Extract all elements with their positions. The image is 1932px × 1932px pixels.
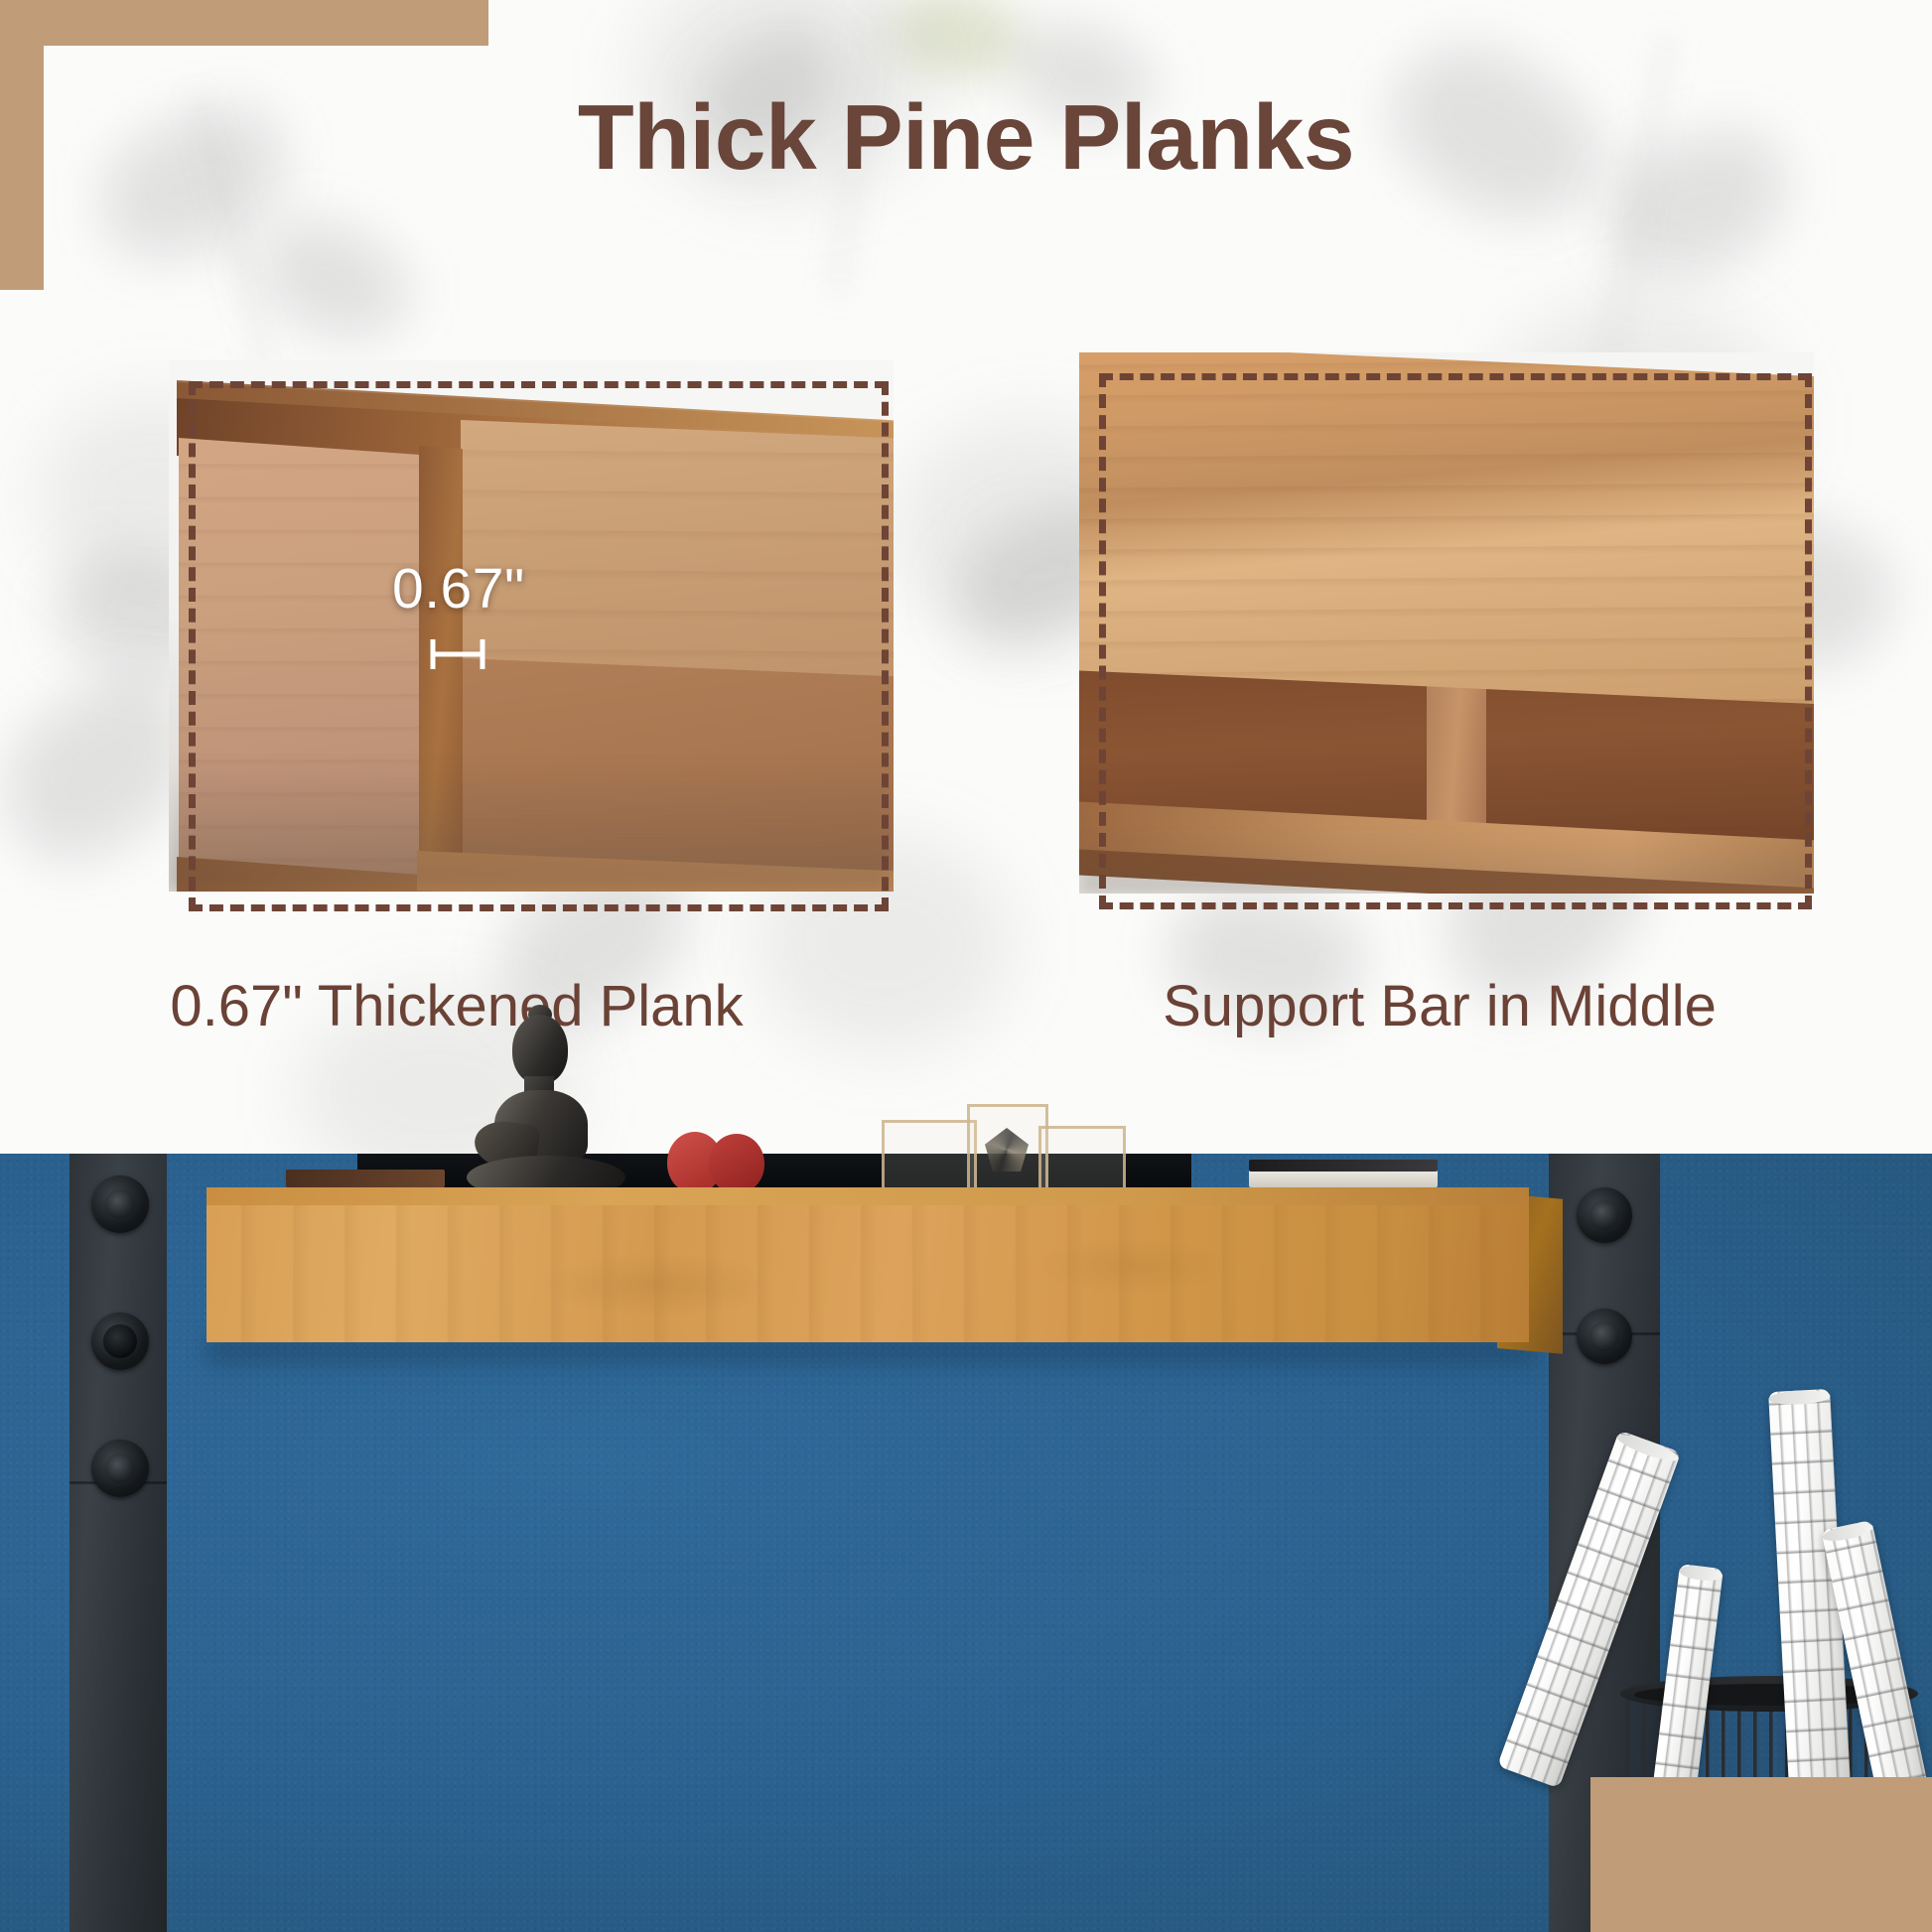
red-heart-ornament xyxy=(667,1132,764,1195)
feature-caption-support-bar: Support Bar in Middle xyxy=(993,973,1886,1039)
speaker-icon xyxy=(91,1440,149,1497)
top-feature-panel: Thick Pine Planks 0.67" xyxy=(0,0,1932,1154)
speaker-icon xyxy=(1577,1309,1632,1364)
dimension-label-thickness: 0.67" xyxy=(392,556,525,621)
dashed-highlight-box-left xyxy=(189,381,889,911)
corner-block-bottom-right xyxy=(1590,1777,1932,1932)
feature-caption-thickened-plank: 0.67" Thickened Plank xyxy=(0,973,913,1039)
speaker-icon xyxy=(1577,1187,1632,1243)
speaker-column-left xyxy=(69,1154,167,1932)
corner-bracket-horizontal xyxy=(0,0,488,46)
dimension-double-arrow-icon xyxy=(429,635,486,673)
page-title: Thick Pine Planks xyxy=(0,87,1932,187)
small-wood-box xyxy=(286,1170,445,1187)
dashed-highlight-box-right xyxy=(1099,373,1812,909)
glass-display-boxes xyxy=(882,1100,1120,1195)
buddha-statue xyxy=(467,1015,625,1195)
speaker-icon xyxy=(91,1312,149,1370)
speaker-icon xyxy=(91,1175,149,1233)
product-feature-image: Thick Pine Planks 0.67" xyxy=(0,0,1932,1932)
